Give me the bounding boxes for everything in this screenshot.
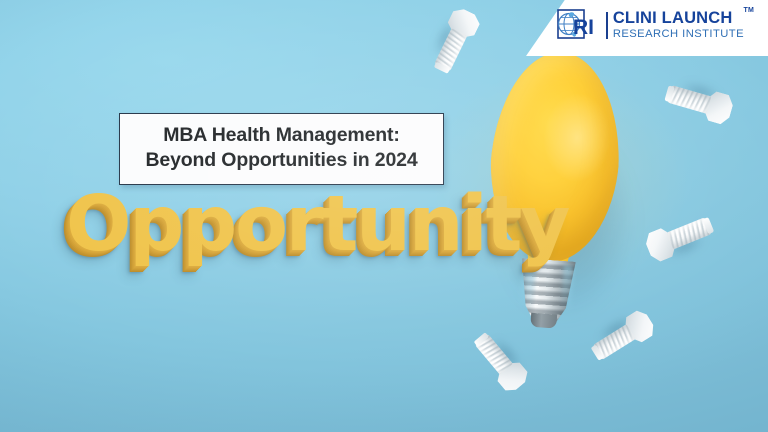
brand-name-line-2: RESEARCH INSTITUTE	[613, 29, 744, 40]
promotional-banner: Opportunity MBA Health Management: Beyon…	[0, 0, 768, 432]
title-callout-box: MBA Health Management: Beyond Opportunit…	[119, 113, 444, 185]
title-line-2: Beyond Opportunities in 2024	[132, 148, 431, 173]
brand-name-line-1: CLINI LAUNCH	[613, 10, 744, 27]
title-line-1: MBA Health Management:	[132, 123, 431, 148]
svg-text:RI: RI	[573, 16, 594, 39]
trademark-symbol: TM	[743, 7, 754, 14]
brand-logo[interactable]: RI CLINI LAUNCH RESEARCH INSTITUTE TM	[556, 7, 754, 43]
cri-globe-monogram-icon: RI	[556, 8, 600, 42]
headline-word: Opportunity	[66, 186, 568, 263]
bulb-base-tip	[530, 313, 557, 329]
brand-name: CLINI LAUNCH RESEARCH INSTITUTE TM	[613, 10, 754, 40]
logo-divider	[606, 12, 608, 39]
